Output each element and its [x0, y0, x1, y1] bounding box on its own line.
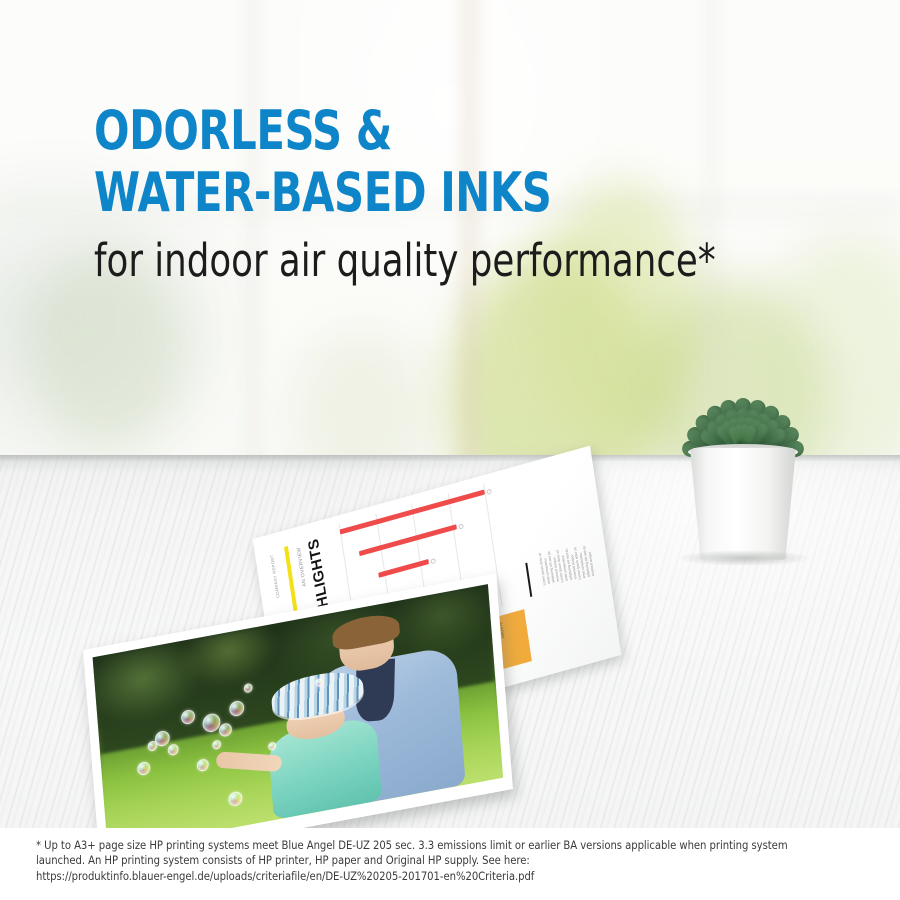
- footnote-line-3[interactable]: https://produktinfo.blauer-engel.de/uplo…: [36, 869, 864, 884]
- pot-body: [690, 448, 796, 560]
- chart-endpoint-dot: [486, 489, 492, 495]
- footnote: * Up to A3+ page size HP printing system…: [0, 828, 900, 900]
- brochure-rule: [525, 563, 532, 597]
- chart-endpoint-dot: [430, 558, 436, 564]
- footnote-line-2: launched. An HP printing system consists…: [36, 853, 864, 868]
- photo-child-figure: [255, 663, 392, 822]
- marketing-banner: ODORLESS & WATER-BASED INKS for indoor a…: [0, 0, 900, 900]
- footnote-line-1: * Up to A3+ page size HP printing system…: [36, 838, 864, 853]
- headline-line-2: WATER-BASED INKS: [94, 162, 748, 224]
- pot-shadow: [678, 550, 810, 566]
- brochure-body-text: Lorem ipsum dolor sit amet consectetur a…: [573, 543, 596, 580]
- subheadline: for indoor air quality performance*: [94, 233, 763, 289]
- potted-plant: [668, 336, 818, 566]
- headline-line-1: ODORLESS &: [94, 100, 748, 162]
- headline-block: ODORLESS & WATER-BASED INKS for indoor a…: [94, 100, 854, 289]
- brochure-kicker: COMPANY REPORT: [269, 554, 280, 599]
- chart-endpoint-dot: [458, 523, 464, 529]
- chart-bar: [359, 524, 457, 556]
